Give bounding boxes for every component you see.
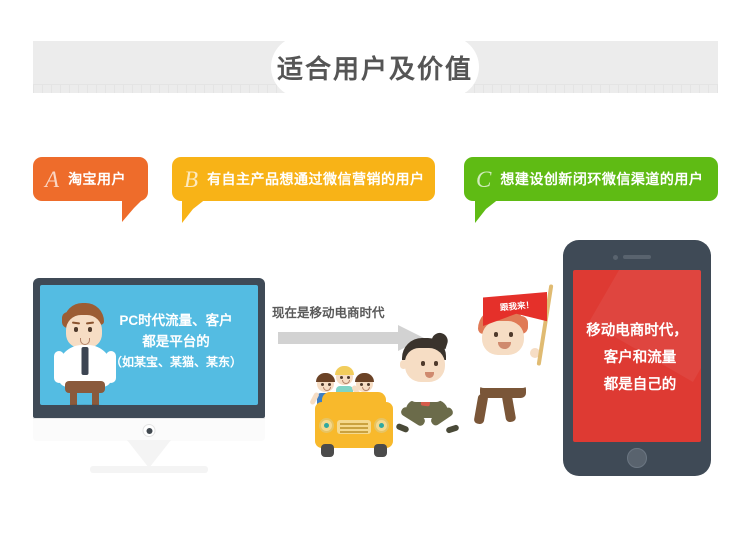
- bubble-a-letter: A: [45, 168, 59, 191]
- car-grille-icon: [337, 420, 371, 434]
- eye-left: [360, 383, 363, 386]
- poster-canvas: 适合用户及价值 A 淘宝用户 B 有自主产品想通过微信营销的用户 C 想建设创新…: [0, 0, 750, 538]
- shadow: [62, 404, 108, 405]
- arm-left: [54, 351, 64, 383]
- audience-bubble-b[interactable]: B 有自主产品想通过微信营销的用户: [172, 157, 435, 201]
- eye-left: [321, 383, 324, 386]
- page-title: 适合用户及价值: [277, 49, 473, 86]
- monitor-screen: PC时代流量、客户 都是平台的 （如某宝、某猫、某东）: [40, 285, 258, 405]
- shoe-front: [445, 424, 459, 434]
- eye-left: [421, 361, 425, 366]
- shoe-back: [395, 423, 409, 433]
- audience-bubble-a[interactable]: A 淘宝用户: [33, 157, 148, 201]
- bubble-c-label: 想建设创新闭环微信渠道的用户: [500, 169, 703, 189]
- hair: [316, 373, 335, 382]
- wheel-right: [374, 444, 387, 457]
- eyebrow-left: [72, 321, 80, 324]
- tablet-illustration: 移动电商时代， 客户和流量 都是自己的: [563, 240, 711, 476]
- head: [317, 376, 334, 392]
- bubble-a-tail: [122, 198, 144, 222]
- title-pill: 适合用户及价值: [271, 36, 479, 98]
- monitor-line-1: PC时代流量、客户: [102, 311, 250, 332]
- tablet-screen: 移动电商时代， 客户和流量 都是自己的: [573, 270, 701, 442]
- eyebrow-right: [86, 321, 94, 324]
- hair: [355, 373, 374, 382]
- face: [405, 348, 445, 382]
- tablet-line-1: 移动电商时代，: [573, 318, 701, 345]
- head: [356, 376, 373, 392]
- open-mouth: [425, 372, 434, 378]
- tablet-speaker-icon: [623, 255, 651, 259]
- red-flag-icon: 跟我来！: [485, 284, 555, 370]
- desktop-monitor-illustration: PC时代流量、客户 都是平台的 （如某宝、某猫、某东）: [33, 278, 265, 478]
- smile: [342, 380, 350, 384]
- eye-right: [88, 327, 92, 332]
- head: [336, 369, 353, 385]
- running-businessman-icon: [400, 338, 464, 448]
- headlight-right-icon: [374, 418, 389, 433]
- bubble-b-label: 有自主产品想通过微信营销的用户: [207, 169, 425, 189]
- yellow-car-icon: [315, 376, 393, 462]
- bubble-c-letter: C: [476, 168, 491, 191]
- bubble-c-tail: [475, 198, 500, 223]
- monitor-line-3: （如某宝、某猫、某东）: [102, 353, 250, 372]
- headlight-left-icon: [319, 418, 334, 433]
- frown-mouth: [80, 338, 90, 345]
- eye-right: [328, 383, 331, 386]
- tablet-home-button[interactable]: [627, 448, 647, 468]
- audience-bubble-c[interactable]: C 想建设创新闭环微信渠道的用户: [464, 157, 718, 201]
- bubble-b-letter: B: [184, 168, 198, 191]
- ear: [400, 360, 407, 369]
- monitor-line-2: 都是平台的: [102, 332, 250, 353]
- eye-right: [434, 361, 438, 366]
- tablet-message: 移动电商时代， 客户和流量 都是自己的: [573, 318, 701, 398]
- tablet-line-2: 客户和流量: [573, 345, 701, 372]
- eye-left: [340, 376, 343, 379]
- bubble-a-label: 淘宝用户: [68, 169, 126, 189]
- smile: [323, 387, 331, 391]
- crowd-illustration: 跟我来！: [305, 290, 555, 490]
- eye-left: [74, 327, 78, 332]
- monitor-stand-base: [90, 466, 208, 473]
- hair: [335, 366, 354, 375]
- necktie: [82, 347, 89, 375]
- eye-right: [347, 376, 350, 379]
- tablet-line-3: 都是自己的: [573, 372, 701, 399]
- smile: [362, 387, 370, 391]
- monitor-camera-icon: [143, 424, 156, 437]
- monitor-stand-neck: [127, 440, 171, 468]
- tablet-camera-icon: [613, 255, 618, 260]
- face: [66, 315, 102, 348]
- monitor-message: PC时代流量、客户 都是平台的 （如某宝、某猫、某东）: [102, 311, 250, 371]
- leg-back: [473, 393, 488, 424]
- leg-right: [92, 391, 99, 405]
- bubble-b-tail: [182, 198, 207, 223]
- eye-right: [367, 383, 370, 386]
- wheel-left: [321, 444, 334, 457]
- leg-left: [70, 391, 77, 405]
